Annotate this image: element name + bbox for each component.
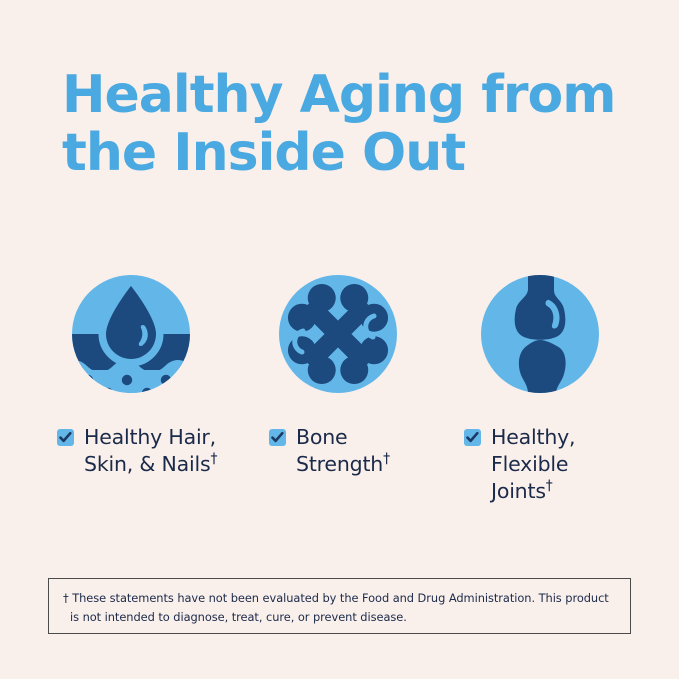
promo-panel: Healthy Aging from the Inside Out (0, 0, 679, 679)
benefit-line-1: Healthy, (491, 425, 575, 449)
benefit-item-hair-skin-nails: Healthy Hair, Skin, & Nails† (57, 424, 257, 478)
benefit-list: Healthy Hair, Skin, & Nails† Bone Streng… (0, 424, 679, 534)
knee-joint-icon (470, 264, 610, 404)
dagger-marker: † (546, 478, 553, 494)
disclaimer-text: † These statements have not been evaluat… (63, 589, 616, 627)
disclaimer-box: † These statements have not been evaluat… (48, 578, 631, 634)
benefit-icon-row (0, 264, 679, 404)
page-title-line-2: the Inside Out (62, 124, 632, 182)
checkmark-icon (57, 429, 74, 446)
checkmark-icon (269, 429, 286, 446)
benefit-item-bone-strength: Bone Strength† (269, 424, 449, 478)
dagger-marker: † (210, 451, 217, 467)
crossed-bones-icon (268, 264, 408, 404)
benefit-line-1: Bone (296, 425, 347, 449)
benefit-line-3: Joints (491, 479, 546, 503)
page-title: Healthy Aging from the Inside Out (62, 66, 632, 182)
skin-hydration-icon (61, 264, 201, 404)
checkmark-icon (464, 429, 481, 446)
page-title-line-1: Healthy Aging from (62, 66, 632, 124)
benefit-line-1: Healthy Hair, (84, 425, 216, 449)
benefit-label: Healthy Hair, Skin, & Nails† (84, 424, 217, 478)
benefit-label: Healthy, Flexible Joints† (491, 424, 575, 505)
benefit-line-2: Flexible (491, 452, 568, 476)
benefit-line-2: Strength (296, 452, 383, 476)
dagger-marker: † (383, 451, 390, 467)
benefit-label: Bone Strength† (296, 424, 390, 478)
benefit-item-flexible-joints: Healthy, Flexible Joints† (464, 424, 644, 505)
benefit-line-2: Skin, & Nails (84, 452, 210, 476)
